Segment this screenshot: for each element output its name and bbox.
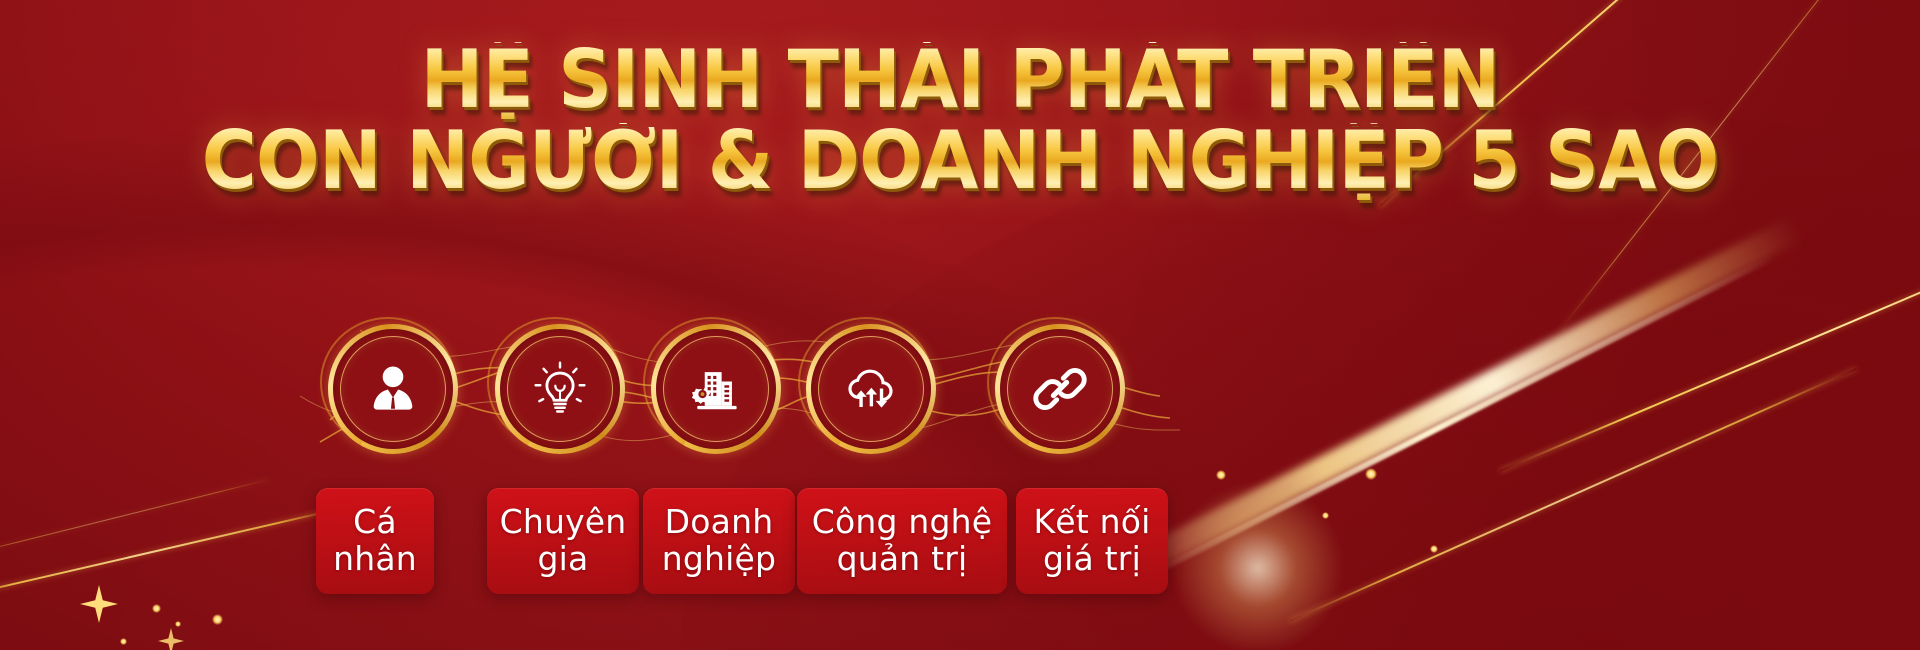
cloud-sync-icon	[806, 324, 936, 454]
promo-banner: HỆ SINH THÁI PHÁT TRIỂN CON NGƯỜI & DOAN…	[0, 0, 1920, 650]
pillar-circle-ca-nhan[interactable]	[328, 324, 458, 454]
pillar-label-cong-nghe[interactable]: Công nghệ quản trị	[797, 488, 1007, 594]
sparkle-dot	[212, 614, 223, 625]
lightbulb-icon	[495, 324, 625, 454]
building-gear-icon	[651, 324, 781, 454]
pillar-circle-ket-noi[interactable]	[995, 324, 1125, 454]
sparkle-dot	[120, 638, 127, 645]
pillar-circle-doanh-nghiep[interactable]	[651, 324, 781, 454]
pillar-label-chuyen-gia[interactable]: Chuyên gia	[487, 488, 639, 594]
pillar-label-doanh-nghiep[interactable]: Doanh nghiệp	[643, 488, 795, 594]
pillar-label-row: Cá nhân Chuyên gia Doanh nghiệp Công ngh…	[0, 488, 1920, 604]
sparkle-dot	[152, 604, 161, 613]
pillar-label-ket-noi[interactable]: Kết nối giá trị	[1016, 488, 1168, 594]
person-tie-icon	[328, 324, 458, 454]
pillar-label-text: Kết nối giá trị	[1033, 504, 1150, 578]
pillar-label-text: Cá nhân	[333, 504, 417, 578]
link-chain-icon	[995, 324, 1125, 454]
connecting-ribbon-lines	[0, 300, 1920, 490]
pillar-circle-cong-nghe[interactable]	[806, 324, 936, 454]
pillar-label-text: Công nghệ quản trị	[812, 504, 992, 578]
pillar-label-ca-nhan[interactable]: Cá nhân	[316, 488, 434, 594]
pillar-icon-row	[0, 324, 1920, 454]
pillar-circle-chuyen-gia[interactable]	[495, 324, 625, 454]
headline-line-2: CON NGƯỜI & DOANH NGHIỆP 5 SAO	[58, 123, 1863, 200]
headline: HỆ SINH THÁI PHÁT TRIỂN CON NGƯỜI & DOAN…	[0, 42, 1920, 200]
headline-line-1: HỆ SINH THÁI PHÁT TRIỂN	[58, 42, 1863, 119]
sparkle-star-icon	[158, 628, 184, 650]
pillar-label-text: Chuyên gia	[500, 504, 627, 578]
sparkle-dot	[175, 621, 181, 627]
pillar-label-text: Doanh nghiệp	[662, 504, 776, 578]
